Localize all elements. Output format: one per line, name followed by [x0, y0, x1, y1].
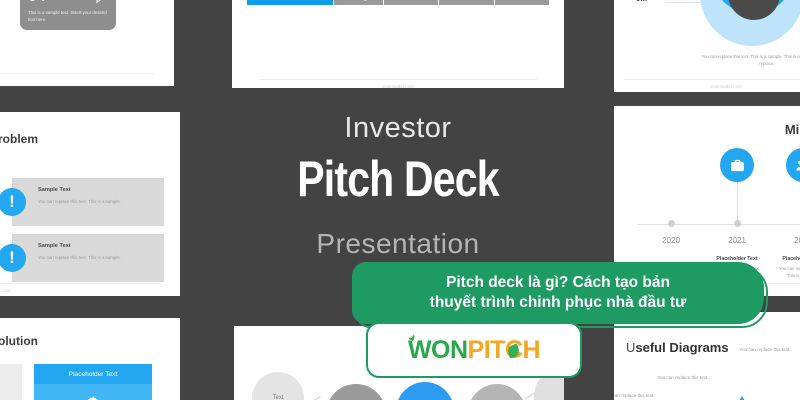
page-title: Useful Diagrams — [626, 340, 729, 355]
wonpitch-logo: WON PITCH — [408, 336, 540, 365]
timeline-body: You can replace this text. This is a sam… — [777, 266, 800, 280]
timeline-year: 2021 — [728, 236, 746, 245]
list-item-body: You can replace this text. This is a sam… — [38, 254, 156, 261]
timeline-pin — [734, 220, 741, 227]
title-line-pitch-deck: Pitch Deck — [262, 150, 534, 208]
list-item-body: You can replace this text. This is a sam… — [38, 198, 156, 205]
slide-thumbnail-problem[interactable]: Problem ! Sample Text You can replace th… — [0, 110, 180, 296]
solution-card[interactable]: Placeholder Text — [34, 364, 152, 400]
timeline-axis — [638, 224, 800, 225]
slide-thumbnail-market-size[interactable]: 55M 9M $ You can replace this text. This… — [604, 0, 800, 92]
slide-credit: slidemodel.com — [604, 84, 800, 89]
gear-icon — [85, 394, 101, 400]
slide-thumbnail-comparison-table[interactable]: You can replace this text ✓ ✗ ✗ ✗ You ca… — [232, 0, 564, 92]
diagram-caption: You can replace this text. — [656, 374, 710, 382]
logo-text-pitch: PITCH — [468, 336, 541, 365]
banner-text: Pitch deck là gì? Cách tạo bản thuyết tr… — [352, 262, 764, 324]
table-footer-cell: Weak — [494, 0, 549, 5]
logo-container[interactable]: WON PITCH — [366, 322, 582, 378]
diagram-node[interactable] — [326, 384, 386, 400]
overlay-banner: Pitch deck là gì? Cách tạo bản thuyết tr… — [352, 262, 764, 324]
table-footer-blank — [247, 0, 333, 5]
triangle-shape — [720, 396, 764, 400]
page-title: Solution — [0, 334, 38, 348]
timeline-stem — [737, 182, 738, 222]
people-icon — [786, 148, 800, 182]
market-description: You can replace this text. This is a sam… — [694, 54, 800, 68]
diagram-node-active[interactable] — [396, 382, 454, 400]
title-bold: seful Diagrams — [635, 340, 728, 355]
timeline-heading: Placeholder Text — [782, 256, 800, 262]
table-footer-cell: Weak — [438, 0, 493, 5]
diagram-node-text[interactable]: Text — [252, 372, 304, 400]
timeline-pin — [668, 220, 675, 227]
page-title: Problem — [0, 132, 38, 146]
diagram-caption: You can replace this text. — [608, 392, 656, 400]
rocket-icon — [94, 0, 107, 5]
vision-card-number: 04 — [28, 0, 46, 6]
table-footer-row: Strong Weak Weak Weak — [247, 0, 549, 5]
timeline-year: 2022 — [794, 236, 800, 245]
solution-card-label: Placeholder Text — [34, 364, 152, 384]
vision-card-text: This is a sample text. Insert your desir… — [28, 10, 108, 23]
page-title: Milestones — [785, 122, 800, 137]
background-strip — [604, 92, 800, 106]
market-value-bottom: 9M — [636, 0, 647, 3]
sparkle-icon — [409, 335, 418, 344]
slide-thumbnail-vision[interactable]: VISION 04 This is a sample text. Insert … — [0, 0, 174, 86]
background-strip — [0, 86, 232, 112]
logo-box[interactable]: WON PITCH — [366, 322, 582, 378]
table-footer-cell: Weak — [383, 0, 438, 5]
slide-credit: slidemodel.com — [0, 288, 180, 293]
list-item[interactable]: ! Sample Text You can replace this text.… — [0, 178, 164, 226]
diagram-node[interactable] — [468, 384, 526, 400]
list-item[interactable]: ! Sample Text You can replace this text.… — [0, 234, 164, 282]
list-item-heading: Sample Text — [38, 243, 71, 249]
slide-gallery-background: VISION 04 This is a sample text. Insert … — [0, 0, 800, 400]
diagram-caption: You can replace this text. — [738, 346, 792, 354]
divider — [0, 73, 155, 74]
diagram-node-label: Text — [272, 395, 283, 400]
timeline-year: 2020 — [662, 236, 680, 245]
list-item-heading: Sample Text — [38, 187, 71, 193]
vision-card-04[interactable]: 04 This is a sample text. Insert your de… — [20, 0, 116, 30]
divider — [0, 283, 161, 284]
slide-thumbnail-solution[interactable]: Solution Placeholder Text — [0, 318, 180, 400]
solution-stub — [0, 364, 22, 400]
banner-line-2: thuyết trình chinh phục nhà đầu tư — [430, 293, 687, 313]
title-line-investor: Investor — [232, 112, 564, 145]
title-line-presentation: Presentation — [232, 228, 564, 260]
title-light: U — [626, 340, 635, 355]
table-footer-cell: Strong — [333, 0, 383, 5]
comparison-table: You can replace this text ✓ ✗ ✗ ✗ You ca… — [247, 0, 549, 5]
background-strip — [180, 0, 232, 400]
diagram-connector — [307, 396, 321, 400]
divider — [624, 79, 800, 80]
briefcase-icon — [720, 148, 754, 182]
banner-line-1: Pitch deck là gì? Cách tạo bản — [446, 273, 670, 293]
divider — [259, 79, 538, 80]
